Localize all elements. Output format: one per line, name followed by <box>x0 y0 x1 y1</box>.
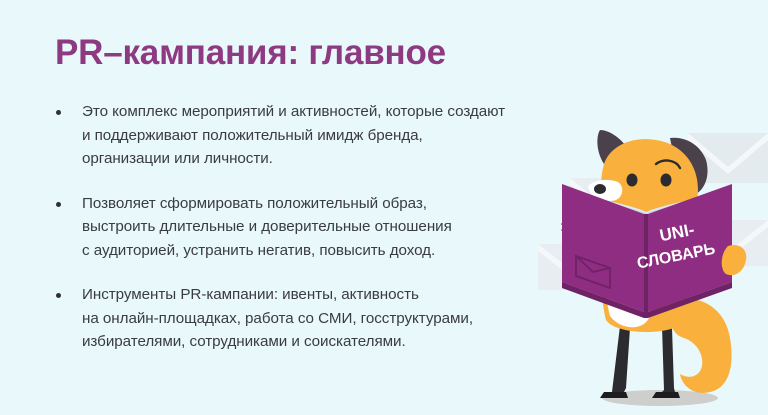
fox-foot-left-shape <box>600 392 628 398</box>
list-item: Позволяет сформировать положительный обр… <box>48 192 648 263</box>
fox-nose-shape <box>594 184 606 194</box>
bullet-dot-icon <box>56 202 61 207</box>
fox-leg-left-shape <box>606 326 630 396</box>
fox-eye-right-shape <box>661 174 672 187</box>
fox-leg-right-shape <box>658 326 676 396</box>
page-title: PR–кампания: главное <box>55 33 446 73</box>
bullet-list: Это комплекс мероприятий и активностей, … <box>48 100 648 354</box>
fox-foot-right-shape <box>652 392 680 398</box>
bullet-dot-icon <box>56 110 61 115</box>
list-item: Инструменты PR-кампании: ивенты, активно… <box>48 283 648 354</box>
fox-reading-book-illustration: UNI- СЛОВАРЬ <box>560 130 768 415</box>
slide-root: PR–кампания: главное Это комплекс меропр… <box>0 0 768 415</box>
list-item: Это комплекс мероприятий и активностей, … <box>48 100 648 171</box>
fox-paw-shape <box>722 245 747 275</box>
bullet-dot-icon <box>56 293 61 298</box>
fox-eye-left-shape <box>627 174 638 187</box>
